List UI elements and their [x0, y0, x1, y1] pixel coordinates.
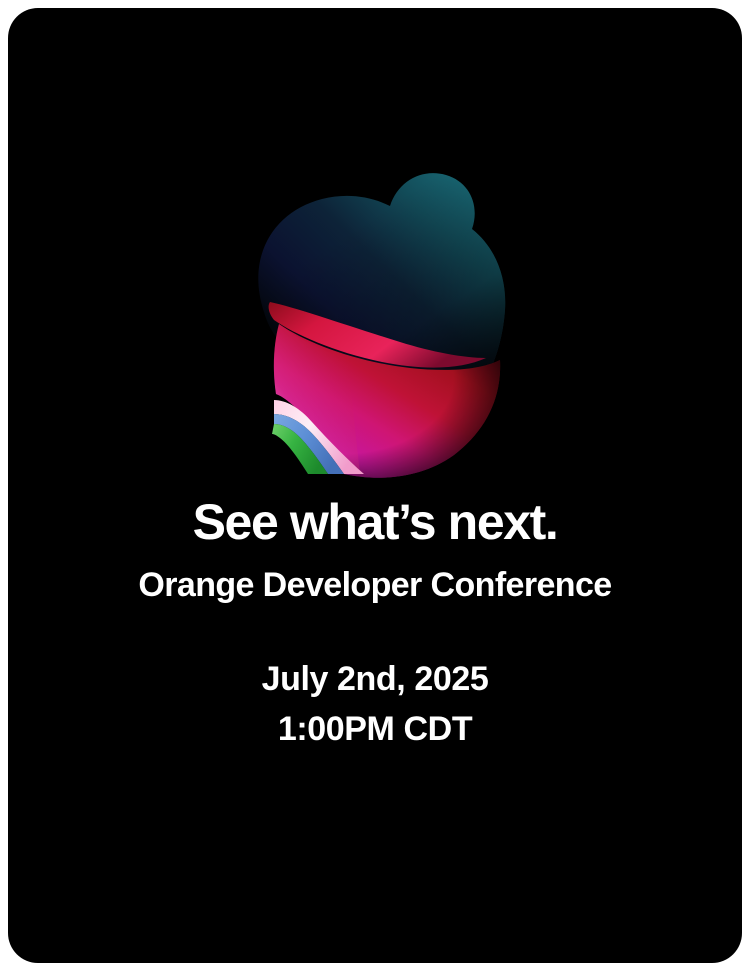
event-announcement-card: See what’s next. Orange Developer Confer… [8, 8, 742, 963]
event-datetime-group: July 2nd, 2025 1:00PM CDT [8, 608, 742, 754]
abstract-gradient-blob-logo [8, 8, 742, 478]
event-time: 1:00PM CDT [8, 704, 742, 754]
event-date: July 2nd, 2025 [8, 654, 742, 704]
announcement-text-block: See what’s next. Orange Developer Confer… [8, 489, 742, 754]
blob-logo-svg [8, 8, 742, 478]
page-title: See what’s next. [8, 489, 742, 555]
event-name: Orange Developer Conference [8, 555, 742, 608]
